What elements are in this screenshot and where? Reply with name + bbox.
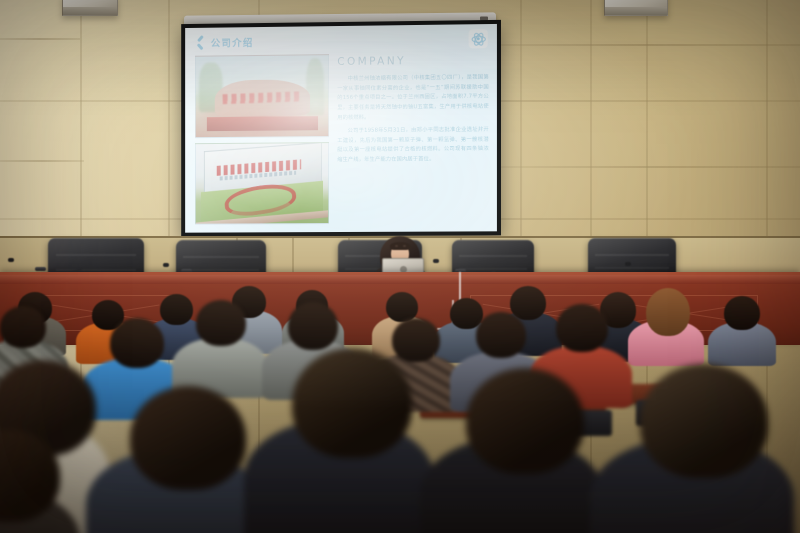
slide-photo-column (195, 54, 329, 225)
back-chevron-icon (195, 35, 205, 51)
slide-title: 公司介绍 (211, 35, 254, 49)
ceiling-air-vent-left (62, 0, 118, 16)
slide-kicker: COMPANY (337, 54, 489, 68)
slide-paragraph-1: 中核兰州铀浓缩有限公司（中核集团五〇四厂），是我国第一家从事铀同位素分离的企业，… (337, 73, 489, 123)
slide-body: COMPANY 中核兰州铀浓缩有限公司（中核集团五〇四厂），是我国第一家从事铀同… (195, 52, 489, 224)
slide-text-column: COMPANY 中核兰州铀浓缩有限公司（中核集团五〇四厂），是我国第一家从事铀同… (337, 52, 489, 224)
monument-photo (195, 54, 329, 138)
atom-nuclear-logo-icon (469, 29, 488, 48)
slide-header: 公司介绍 (195, 34, 254, 51)
slide-paragraph-2: 公司于1958年5月31日，由邓小平同志批准企业选址并开工建设，先后为我国第一颗… (337, 126, 489, 166)
conference-hall-photo: 公司介绍 (0, 0, 800, 533)
campus-photo (195, 142, 329, 225)
presentation-slide: 公司介绍 (185, 24, 497, 233)
projection-screen: 公司介绍 (181, 20, 501, 237)
ceiling-air-vent-right (604, 0, 668, 16)
